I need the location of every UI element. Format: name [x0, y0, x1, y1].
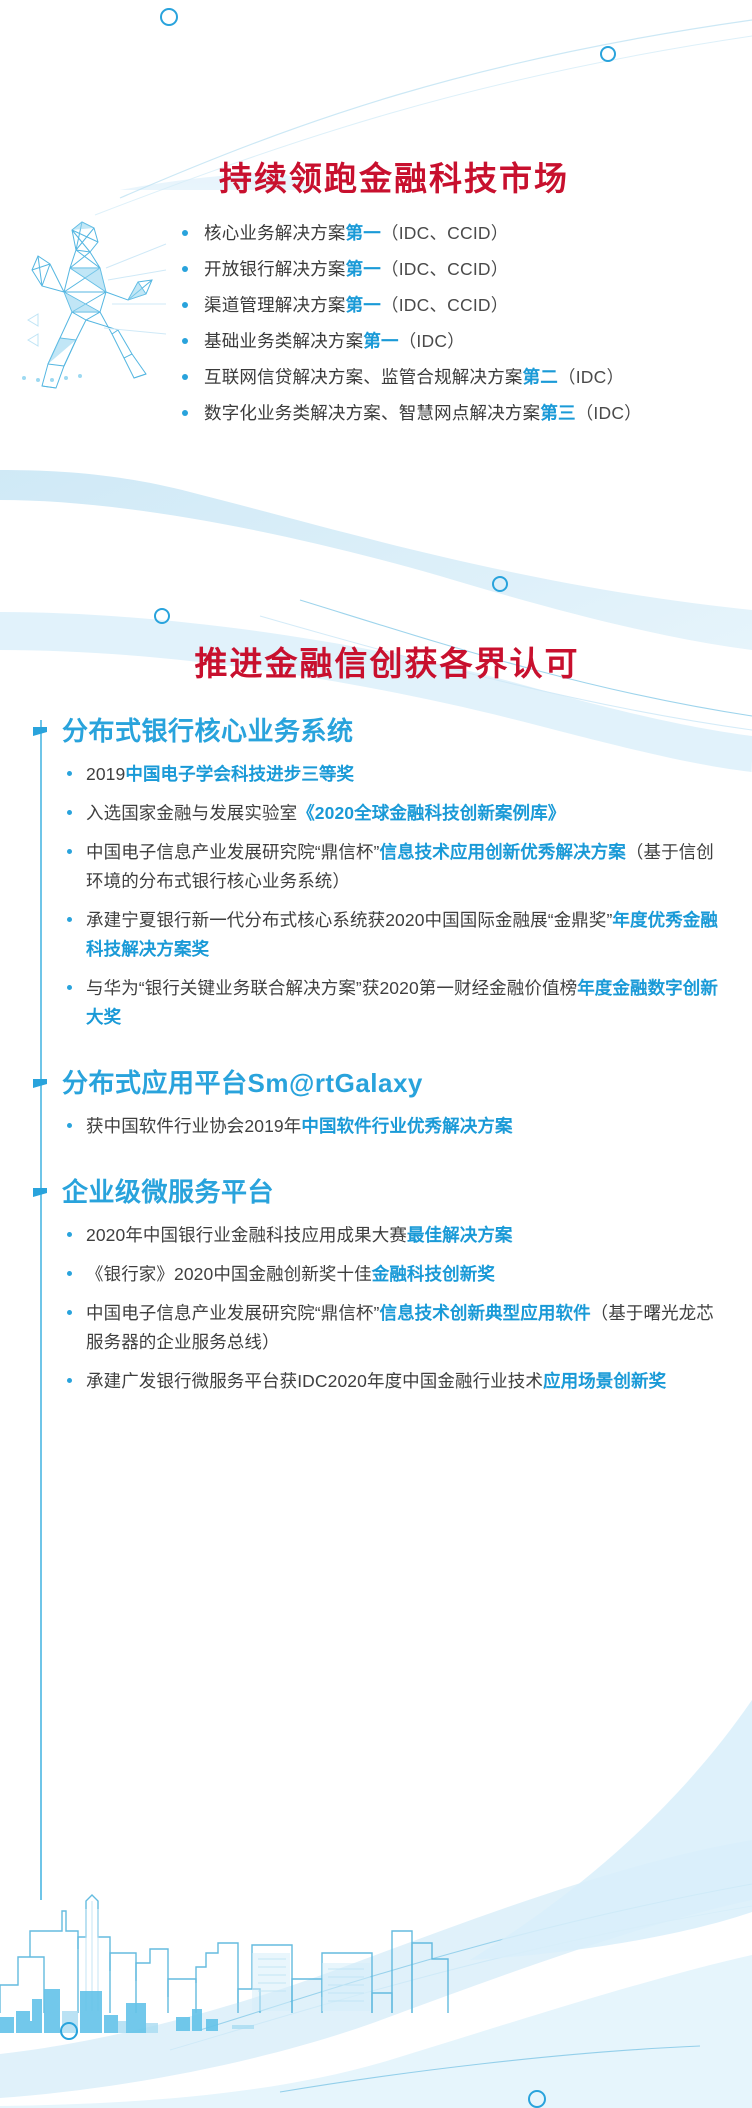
item-rank: 第一 — [346, 223, 381, 243]
item-segment: 承建宁夏银行新一代分布式核心系统获2020中国国际金融展“金鼎奖” — [86, 910, 612, 930]
item-segment: 承建广发银行微服务平台获IDC2020年度中国金融行业技术 — [86, 1371, 543, 1391]
item-rank: 第一 — [363, 331, 398, 351]
item-source: （IDC、CCID） — [381, 295, 508, 315]
group-item-list: 2019中国电子学会科技进步三等奖 入选国家金融与发展实验室《2020全球金融科… — [0, 760, 752, 1032]
section-market-leadership: 持续领跑金融科技市场 — [0, 0, 752, 620]
item-segment-highlight: 应用场景创新奖 — [543, 1371, 666, 1391]
item-text: 互联网信贷解决方案、监管合规解决方案 — [204, 367, 523, 387]
item-segment: 中国电子信息产业发展研究院“鼎信杯” — [86, 842, 379, 862]
item-source: （IDC） — [399, 331, 465, 351]
running-man-wireframe-icon — [20, 208, 170, 408]
group-item-list: 2020年中国银行业金融科技应用成果大赛最佳解决方案 《银行家》2020中国金融… — [0, 1221, 752, 1396]
list-item: 渠道管理解决方案第一（IDC、CCID） — [178, 292, 708, 319]
bullet-dot-icon — [182, 410, 188, 416]
list-item: 承建广发银行微服务平台获IDC2020年度中国金融行业技术应用场景创新奖 — [0, 1367, 752, 1396]
award-group: 分布式应用平台Sm@rtGalaxy 获中国软件行业协会2019年中国软件行业优… — [0, 1066, 752, 1141]
item-source: （IDC、CCID） — [381, 223, 508, 243]
item-segment-highlight: 金融科技创新奖 — [372, 1264, 495, 1284]
bullet-dot-icon — [67, 849, 72, 854]
list-item: 承建宁夏银行新一代分布式核心系统获2020中国国际金融展“金鼎奖”年度优秀金融科… — [0, 906, 752, 964]
bullet-dot-icon — [67, 1232, 72, 1237]
list-item: 核心业务解决方案第一（IDC、CCID） — [178, 220, 708, 247]
section2-title: 推进金融信创获各界认可 — [0, 637, 752, 685]
bullet-dot-icon — [67, 985, 72, 990]
item-source: （IDC） — [576, 403, 642, 423]
item-segment: 2019 — [86, 764, 125, 784]
bullet-dot-icon — [182, 266, 188, 272]
list-item: 基础业务类解决方案第一（IDC） — [178, 328, 708, 355]
group-heading-label: 分布式银行核心业务系统 — [62, 716, 354, 746]
item-text: 核心业务解决方案 — [204, 223, 346, 243]
list-item: 与华为“银行关键业务联合解决方案”获2020第一财经金融价值榜年度金融数字创新大… — [0, 974, 752, 1032]
bullet-dot-icon — [182, 374, 188, 380]
infographic-poster: 持续领跑金融科技市场 — [0, 0, 752, 2108]
list-item: 获中国软件行业协会2019年中国软件行业优秀解决方案 — [0, 1112, 752, 1141]
group-item-list: 获中国软件行业协会2019年中国软件行业优秀解决方案 — [0, 1112, 752, 1141]
bullet-dot-icon — [67, 810, 72, 815]
item-segment: 与华为“银行关键业务联合解决方案”获2020第一财经金融价值榜 — [86, 978, 577, 998]
item-segment-highlight: 中国电子学会科技进步三等奖 — [125, 764, 354, 784]
list-item: 2020年中国银行业金融科技应用成果大赛最佳解决方案 — [0, 1221, 752, 1250]
bullet-dot-icon — [182, 338, 188, 344]
award-groups: 分布式银行核心业务系统 2019中国电子学会科技进步三等奖 入选国家金融与发展实… — [0, 692, 752, 1406]
list-item: 中国电子信息产业发展研究院“鼎信杯”信息技术应用创新优秀解决方案（基于信创环境的… — [0, 838, 752, 896]
arrow-marker-icon — [33, 727, 47, 736]
item-rank: 第三 — [540, 403, 575, 423]
item-segment-highlight: 信息技术应用创新优秀解决方案 — [379, 842, 625, 862]
list-item: 开放银行解决方案第一（IDC、CCID） — [178, 256, 708, 283]
item-segment: 《银行家》2020中国金融创新奖十佳 — [86, 1264, 372, 1284]
item-segment-highlight: 最佳解决方案 — [407, 1225, 513, 1245]
section1-title: 持续领跑金融科技市场 — [0, 152, 752, 200]
item-text: 基础业务类解决方案 — [204, 331, 363, 351]
bullet-dot-icon — [67, 1378, 72, 1383]
list-item: 入选国家金融与发展实验室《2020全球金融科技创新案例库》 — [0, 799, 752, 828]
item-segment: 中国电子信息产业发展研究院“鼎信杯” — [86, 1303, 379, 1323]
item-rank: 第一 — [346, 259, 381, 279]
group-heading-label: 企业级微服务平台 — [62, 1177, 274, 1207]
group-heading: 企业级微服务平台 — [0, 1175, 752, 1209]
section1-achievement-list: 核心业务解决方案第一（IDC、CCID） 开放银行解决方案第一（IDC、CCID… — [178, 220, 708, 436]
bullet-dot-icon — [67, 771, 72, 776]
item-segment: 获中国软件行业协会2019年 — [86, 1116, 301, 1136]
bullet-dot-icon — [182, 230, 188, 236]
bullet-dot-icon — [182, 302, 188, 308]
group-heading: 分布式应用平台Sm@rtGalaxy — [0, 1066, 752, 1100]
item-source: （IDC） — [558, 367, 624, 387]
item-source: （IDC、CCID） — [381, 259, 508, 279]
award-group: 分布式银行核心业务系统 2019中国电子学会科技进步三等奖 入选国家金融与发展实… — [0, 714, 752, 1032]
item-text: 开放银行解决方案 — [204, 259, 346, 279]
bullet-dot-icon — [67, 1123, 72, 1128]
list-item: 《银行家》2020中国金融创新奖十佳金融科技创新奖 — [0, 1260, 752, 1289]
item-rank: 第一 — [346, 295, 381, 315]
item-segment-highlight: 信息技术创新典型应用软件 — [379, 1303, 590, 1323]
bullet-dot-icon — [67, 1310, 72, 1315]
item-segment: 2020年中国银行业金融科技应用成果大赛 — [86, 1225, 407, 1245]
item-text: 数字化业务类解决方案、智慧网点解决方案 — [204, 403, 540, 423]
group-heading-label: 分布式应用平台Sm@rtGalaxy — [62, 1068, 423, 1098]
item-segment-highlight: 《2020全球金融科技创新案例库》 — [297, 803, 565, 823]
award-group: 企业级微服务平台 2020年中国银行业金融科技应用成果大赛最佳解决方案 《银行家… — [0, 1175, 752, 1396]
bullet-dot-icon — [67, 1271, 72, 1276]
item-text: 渠道管理解决方案 — [204, 295, 346, 315]
item-rank: 第二 — [523, 367, 558, 387]
group-heading: 分布式银行核心业务系统 — [0, 714, 752, 748]
list-item: 互联网信贷解决方案、监管合规解决方案第二（IDC） — [178, 364, 708, 391]
bullet-dot-icon — [67, 917, 72, 922]
list-item: 2019中国电子学会科技进步三等奖 — [0, 760, 752, 789]
list-item: 中国电子信息产业发展研究院“鼎信杯”信息技术创新典型应用软件（基于曙光龙芯服务器… — [0, 1299, 752, 1357]
section-fintech-recognition: 推进金融信创获各界认可 分布式银行核心业务系统 2019中国电子学会科技进步三等… — [0, 620, 752, 2108]
arrow-marker-icon — [33, 1079, 47, 1088]
item-segment: 入选国家金融与发展实验室 — [86, 803, 297, 823]
item-segment-highlight: 中国软件行业优秀解决方案 — [301, 1116, 512, 1136]
list-item: 数字化业务类解决方案、智慧网点解决方案第三（IDC） — [178, 400, 708, 427]
arrow-marker-icon — [33, 1188, 47, 1197]
